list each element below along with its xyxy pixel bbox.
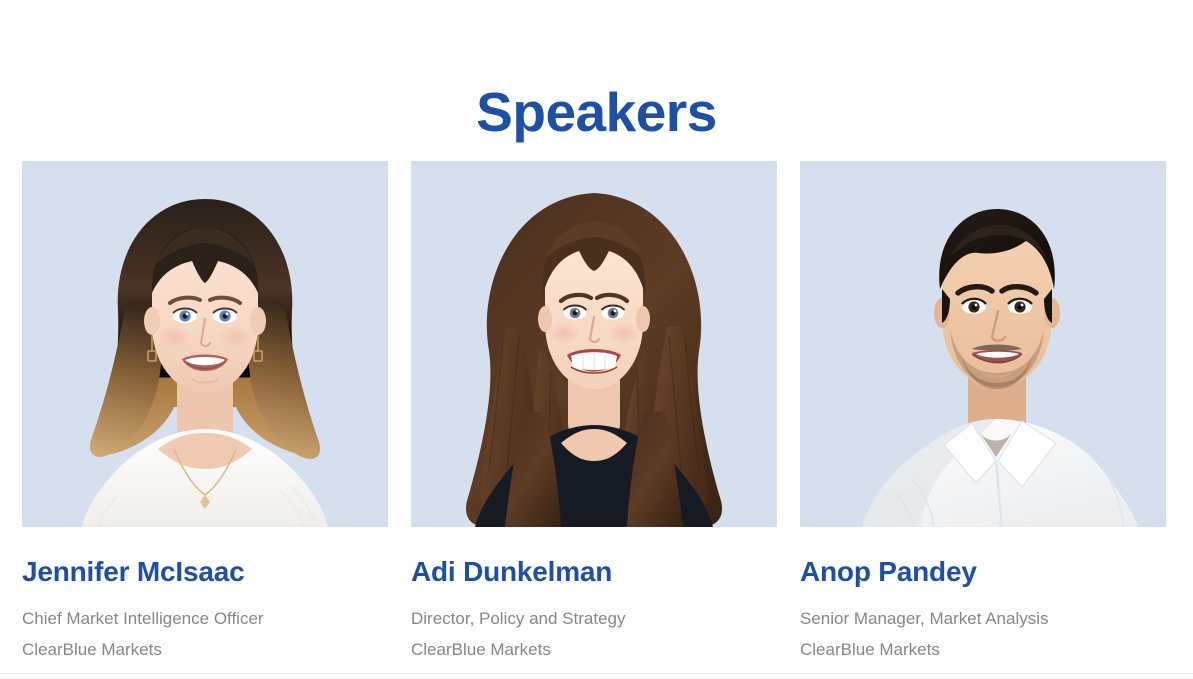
speaker-card: Adi Dunkelman Director, Policy and Strat… [411,161,777,665]
speaker-organization: ClearBlue Markets [22,634,388,665]
speaker-grid: Jennifer McIsaac Chief Market Intelligen… [22,161,1167,665]
speaker-role: Senior Manager, Market Analysis [800,603,1166,634]
speaker-organization: ClearBlue Markets [800,634,1166,665]
speaker-name: Jennifer McIsaac [22,555,388,589]
speaker-name: Adi Dunkelman [411,555,777,589]
section-divider [0,673,1193,674]
speaker-role: Chief Market Intelligence Officer [22,603,388,634]
speaker-card: Jennifer McIsaac Chief Market Intelligen… [22,161,388,665]
speaker-photo [22,161,388,527]
speaker-card: Anop Pandey Senior Manager, Market Analy… [800,161,1166,665]
speaker-name: Anop Pandey [800,555,1166,589]
portrait-illustration-jennifer [22,161,388,527]
portrait-illustration-anop [800,161,1166,527]
speaker-role: Director, Policy and Strategy [411,603,777,634]
speaker-photo [411,161,777,527]
speakers-section: Speakers [0,0,1193,679]
speaker-photo [800,161,1166,527]
portrait-illustration-adi [411,161,777,527]
page-title: Speakers [0,79,1193,145]
speaker-organization: ClearBlue Markets [411,634,777,665]
